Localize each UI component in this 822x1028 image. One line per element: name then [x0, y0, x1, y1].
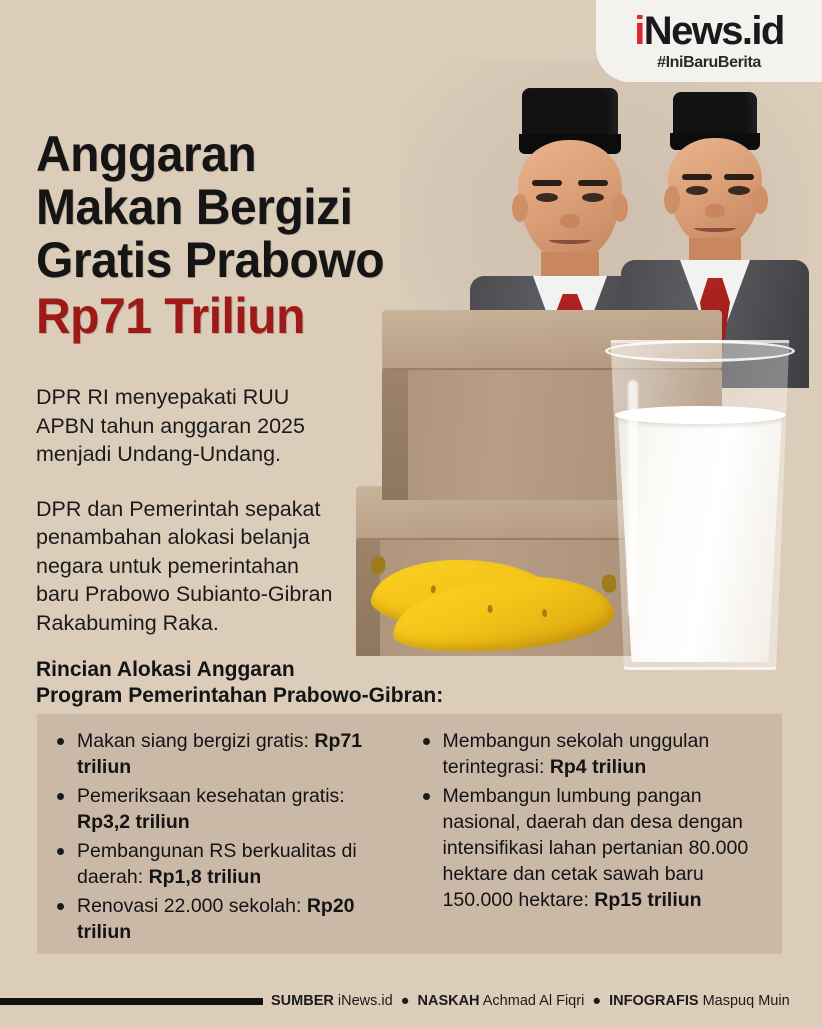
allocation-amount: Rp15 triliun — [594, 889, 701, 911]
allocation-label: Makan siang bergizi gratis: — [77, 730, 314, 752]
credits-text: SUMBER iNews.id ● NASKAH Achmad Al Fiqri… — [271, 991, 790, 1011]
allocation-amount: Rp3,2 triliun — [77, 811, 190, 833]
writer-value: Achmad Al Fiqri — [483, 993, 585, 1009]
footer-rule — [0, 998, 263, 1005]
brand-name-rest: News.id — [644, 9, 784, 53]
credit-separator: ● — [397, 993, 414, 1009]
brand-logo[interactable]: iNews.id #IniBaruBerita — [596, 0, 822, 82]
allocation-right-column: Membangun sekolah unggulan terintegrasi:… — [407, 728, 773, 944]
section-heading-line-1: Rincian Alokasi Anggaran — [36, 657, 443, 683]
footer-credits: SUMBER iNews.id ● NASKAH Achmad Al Fiqri… — [0, 976, 822, 1028]
section-heading-line-2: Program Pemerintahan Prabowo-Gibran: — [36, 683, 443, 709]
allocation-list-left: Makan siang bergizi gratis: Rp71 triliun… — [47, 728, 401, 945]
list-item: Membangun sekolah unggulan terintegrasi:… — [413, 728, 767, 780]
list-item: Pembangunan RS berkualitas di daerah: Rp… — [47, 838, 401, 890]
allocation-amount: Rp1,8 triliun — [149, 866, 262, 888]
headline-line-3: Gratis Prabowo — [36, 234, 439, 287]
source-value: iNews.id — [338, 993, 393, 1009]
headline-line-1: Anggaran — [36, 128, 439, 181]
lede-text: DPR RI menyepakati RUU APBN tahun anggar… — [36, 383, 336, 637]
headline-amount: Rp71 Triliun — [36, 287, 439, 345]
allocation-label: Renovasi 22.000 sekolah: — [77, 895, 307, 917]
brand-tagline: #IniBaruBerita — [657, 54, 761, 72]
designer-label: INFOGRAFIS — [609, 993, 698, 1009]
credit-separator: ● — [588, 993, 605, 1009]
source-label: SUMBER — [271, 993, 334, 1009]
list-item: Pemeriksaan kesehatan gratis: Rp3,2 tril… — [47, 783, 401, 835]
poster-content: Anggaran Makan Bergizi Gratis Prabowo Rp… — [0, 0, 822, 1028]
allocation-list-right: Membangun sekolah unggulan terintegrasi:… — [413, 728, 767, 913]
page-title: Anggaran Makan Bergizi Gratis Prabowo Rp… — [36, 128, 456, 345]
lede-paragraph-2: DPR dan Pemerintah sepakat penambahan al… — [36, 495, 336, 638]
list-item: Renovasi 22.000 sekolah: Rp20 triliun — [47, 893, 401, 945]
allocation-label: Pemeriksaan kesehatan gratis: — [77, 785, 345, 807]
allocation-amount: Rp4 triliun — [550, 756, 646, 778]
lede-paragraph-1: DPR RI menyepakati RUU APBN tahun anggar… — [36, 383, 336, 469]
headline-line-2: Makan Bergizi — [36, 181, 439, 234]
brand-wordmark: iNews.id — [634, 11, 783, 51]
allocation-left-column: Makan siang bergizi gratis: Rp71 triliun… — [41, 728, 407, 944]
list-item: Makan siang bergizi gratis: Rp71 triliun — [47, 728, 401, 780]
list-item: Membangun lumbung pangan nasional, daera… — [413, 783, 767, 913]
allocation-panel: Makan siang bergizi gratis: Rp71 triliun… — [37, 714, 782, 954]
infographic-poster: iNews.id #IniBaruBerita Anggaran Makan B… — [0, 0, 822, 1028]
brand-name-prefix: i — [634, 9, 644, 53]
writer-label: NASKAH — [418, 993, 480, 1009]
designer-value: Maspuq Muin — [703, 993, 790, 1009]
section-heading: Rincian Alokasi Anggaran Program Pemerin… — [36, 657, 443, 709]
